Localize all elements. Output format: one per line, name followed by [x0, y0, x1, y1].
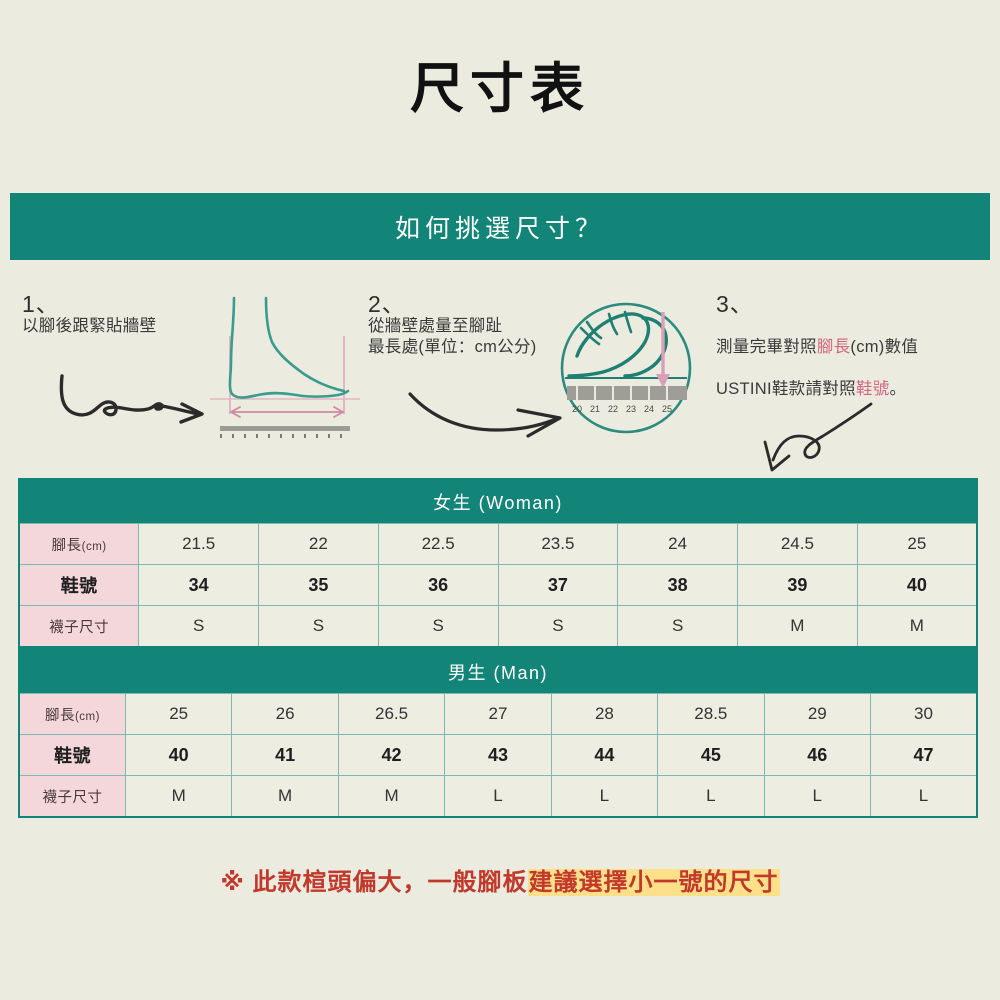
- table-section-header-row: 女生 (Woman): [19, 479, 977, 524]
- cell: 34: [139, 565, 259, 606]
- cell: 28.5: [658, 694, 764, 735]
- woman-size-table: 女生 (Woman) 腳長(cm) 21.5 22 22.5 23.5 24 2…: [18, 478, 978, 648]
- cell: 27: [445, 694, 551, 735]
- cell: 42: [338, 735, 444, 776]
- cell: 45: [658, 735, 764, 776]
- cell: L: [658, 776, 764, 818]
- cell: 29: [764, 694, 870, 735]
- row-label-text: 襪子尺寸: [42, 790, 102, 806]
- step-1: 1、 以腳後跟緊貼牆壁: [22, 292, 362, 337]
- row-label-text: 襪子尺寸: [49, 620, 109, 636]
- cell: 24: [618, 524, 738, 565]
- cell: S: [618, 606, 738, 648]
- cell: 26: [232, 694, 338, 735]
- step-3-line1-b: (cm)數值: [850, 338, 918, 356]
- footnote-highlighted-text: 建議選擇小一號的尺寸: [528, 869, 780, 896]
- cell: 26.5: [338, 694, 444, 735]
- cell: L: [871, 776, 978, 818]
- cell: 37: [498, 565, 618, 606]
- row-label-shoesize: 鞋號: [19, 735, 125, 776]
- footnote: ※ 此款楦頭偏大，一般腳板建議選擇小一號的尺寸: [0, 862, 1000, 897]
- footnote-plain-text: 此款楦頭偏大，一般腳板: [245, 869, 528, 896]
- cell: S: [139, 606, 259, 648]
- foot-side-view-diagram: [204, 296, 364, 446]
- step-3-line2-b: 。: [890, 380, 907, 398]
- cell: 40: [125, 735, 231, 776]
- woman-section-title: 女生 (Woman): [19, 479, 977, 524]
- row-label-text: 腳長: [52, 538, 82, 554]
- cell: 28: [551, 694, 657, 735]
- cell: 38: [618, 565, 738, 606]
- svg-text:20: 20: [572, 404, 582, 414]
- cell: S: [498, 606, 618, 648]
- svg-text:21: 21: [590, 404, 600, 414]
- cell: 41: [232, 735, 338, 776]
- row-label-text: 鞋號: [61, 576, 98, 596]
- cell: M: [857, 606, 977, 648]
- how-to-choose-banner: 如何挑選尺寸？: [10, 193, 990, 260]
- cell: 25: [857, 524, 977, 565]
- row-label-text: 腳長: [45, 708, 75, 724]
- doodle-arrow-down-icon: [761, 400, 891, 478]
- step-3-shoesize-highlight: 鞋號: [856, 380, 890, 398]
- table-row: 襪子尺寸 M M M L L L L L: [19, 776, 977, 818]
- cell: M: [338, 776, 444, 818]
- cell: 43: [445, 735, 551, 776]
- step-2: 2、 從牆壁處量至腳趾 最長處(單位：cm公分): [368, 292, 698, 358]
- svg-text:25: 25: [662, 404, 672, 414]
- row-label-text: 鞋號: [54, 746, 91, 766]
- cell: L: [551, 776, 657, 818]
- cell: 44: [551, 735, 657, 776]
- table-row: 襪子尺寸 S S S S S M M: [19, 606, 977, 648]
- cell: 24.5: [738, 524, 858, 565]
- step-3-line1-a: 測量完畢對照: [716, 338, 817, 356]
- cell: 39: [738, 565, 858, 606]
- man-section-title: 男生 (Man): [19, 649, 977, 694]
- step-3-text: 測量完畢對照腳長(cm)數值 USTINI鞋款請對照鞋號。: [716, 316, 996, 400]
- cell: 23.5: [498, 524, 618, 565]
- step-3-line2-a: USTINI鞋款請對照: [716, 380, 856, 398]
- cell: 36: [378, 565, 498, 606]
- table-row: 腳長(cm) 25 26 26.5 27 28 28.5 29 30: [19, 694, 977, 735]
- row-label-socksize: 襪子尺寸: [19, 776, 125, 818]
- foot-top-view-circle-diagram: 2021 2223 2425: [551, 298, 701, 438]
- row-label-socksize: 襪子尺寸: [19, 606, 139, 648]
- man-size-table: 男生 (Man) 腳長(cm) 25 26 26.5 27 28 28.5 29…: [18, 648, 978, 818]
- cell: 21.5: [139, 524, 259, 565]
- cell: 30: [871, 694, 978, 735]
- page-title: 尺寸表: [0, 0, 1000, 130]
- cell: L: [764, 776, 870, 818]
- banner-label: 如何挑選尺寸？: [395, 209, 605, 245]
- step-3-number: 3、: [716, 292, 996, 316]
- cell: S: [378, 606, 498, 648]
- step-3-footlength-highlight: 腳長: [817, 338, 851, 356]
- table-row: 腳長(cm) 21.5 22 22.5 23.5 24 24.5 25: [19, 524, 977, 565]
- cell: 46: [764, 735, 870, 776]
- cell: 22: [259, 524, 379, 565]
- svg-text:23: 23: [626, 404, 636, 414]
- row-label-shoesize: 鞋號: [19, 565, 139, 606]
- cell: M: [232, 776, 338, 818]
- instruction-steps: 1、 以腳後跟緊貼牆壁: [0, 292, 1000, 477]
- cell: 47: [871, 735, 978, 776]
- cell: M: [738, 606, 858, 648]
- table-row: 鞋號 34 35 36 37 38 39 40: [19, 565, 977, 606]
- svg-text:22: 22: [608, 404, 618, 414]
- cell: S: [259, 606, 379, 648]
- cell: 22.5: [378, 524, 498, 565]
- row-label-footlength: 腳長(cm): [19, 694, 125, 735]
- cell: 40: [857, 565, 977, 606]
- row-label-unit: (cm): [82, 541, 107, 553]
- table-row: 鞋號 40 41 42 43 44 45 46 47: [19, 735, 977, 776]
- row-label-unit: (cm): [75, 711, 100, 723]
- svg-text:24: 24: [644, 404, 654, 414]
- table-section-header-row: 男生 (Man): [19, 649, 977, 694]
- cell: M: [125, 776, 231, 818]
- cell: L: [445, 776, 551, 818]
- cell: 35: [259, 565, 379, 606]
- row-label-footlength: 腳長(cm): [19, 524, 139, 565]
- step-3: 3、 測量完畢對照腳長(cm)數值 USTINI鞋款請對照鞋號。: [716, 292, 996, 401]
- footnote-mark-icon: ※: [220, 869, 244, 896]
- cell: 25: [125, 694, 231, 735]
